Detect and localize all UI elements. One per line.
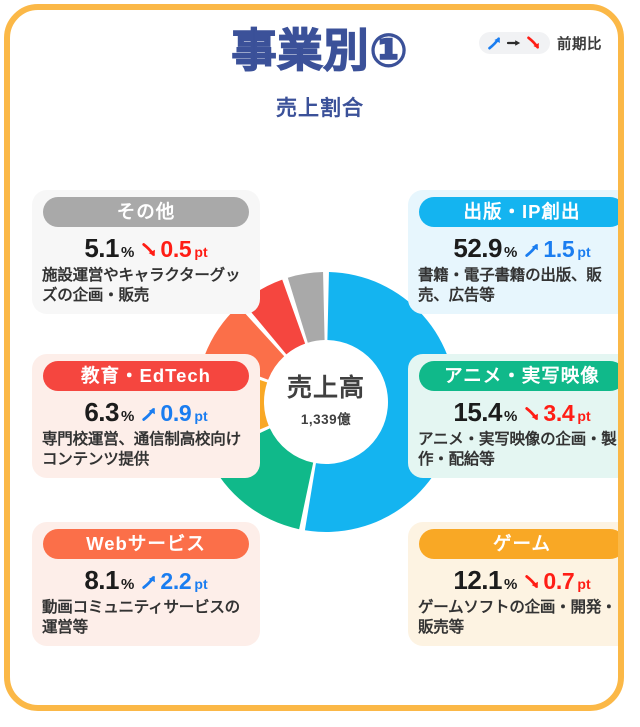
card-web[interactable]: Webサービス 8.1 % 2.2 pt 動画コミュニティサービスの運営等 bbox=[32, 522, 260, 646]
card-game-delta-unit: pt bbox=[577, 576, 590, 592]
card-other-description: 施設運営やキャラクターグッズの企画・販売 bbox=[42, 266, 250, 306]
card-web-arrow-up-right-icon bbox=[140, 573, 158, 591]
card-other-delta-unit: pt bbox=[194, 244, 207, 260]
infographic-frame: 事業別① 売上割合 前期比 売上高 1,339億 bbox=[4, 4, 624, 711]
card-web-description: 動画コミュニティサービスの運営等 bbox=[42, 598, 250, 638]
legend-label: 前期比 bbox=[557, 33, 602, 54]
card-education-delta-unit: pt bbox=[194, 408, 207, 424]
card-education-percent: 6.3 bbox=[84, 397, 119, 428]
card-game-description: ゲームソフトの企画・開発・販売等 bbox=[418, 598, 624, 638]
card-education-stats: 6.3 % 0.9 pt bbox=[32, 397, 260, 428]
card-anime-arrow-down-right-icon bbox=[523, 405, 541, 423]
card-game-percent: 12.1 bbox=[453, 565, 502, 596]
card-other-stats: 5.1 % 0.5 pt bbox=[32, 233, 260, 264]
card-other-percent: 5.1 bbox=[84, 233, 119, 264]
card-education-percent-unit: % bbox=[121, 408, 134, 425]
card-game-percent-unit: % bbox=[504, 576, 517, 593]
card-other-label: その他 bbox=[43, 197, 249, 227]
card-game-label: ゲーム bbox=[419, 529, 624, 559]
card-game[interactable]: ゲーム 12.1 % 0.7 pt ゲームソフトの企画・開発・販売等 bbox=[408, 522, 624, 646]
card-other-delta: 0.5 bbox=[160, 236, 191, 263]
card-education-delta: 0.9 bbox=[160, 400, 191, 427]
card-anime-description: アニメ・実写映像の企画・製作・配給等 bbox=[418, 430, 624, 470]
card-other-percent-unit: % bbox=[121, 244, 134, 261]
card-anime-percent: 15.4 bbox=[453, 397, 502, 428]
legend-arrow-chip bbox=[479, 32, 550, 54]
card-game-delta: 0.7 bbox=[543, 568, 574, 595]
card-anime[interactable]: アニメ・実写映像 15.4 % 3.4 pt アニメ・実写映像の企画・製作・配給… bbox=[408, 354, 624, 478]
card-anime-delta-unit: pt bbox=[577, 408, 590, 424]
card-web-delta-unit: pt bbox=[194, 576, 207, 592]
card-publishing-stats: 52.9 % 1.5 pt bbox=[408, 233, 624, 264]
card-publishing[interactable]: 出版・IP創出 52.9 % 1.5 pt 書籍・電子書籍の出版、販売、広告等 bbox=[408, 190, 624, 314]
card-publishing-delta-unit: pt bbox=[577, 244, 590, 260]
arrow-right-icon bbox=[506, 35, 522, 51]
card-publishing-delta: 1.5 bbox=[543, 236, 574, 263]
donut-center-title: 売上高 bbox=[287, 376, 365, 401]
arrow-down-right-icon bbox=[525, 35, 542, 51]
card-web-percent-unit: % bbox=[121, 576, 134, 593]
card-web-percent: 8.1 bbox=[84, 565, 119, 596]
card-education-arrow-up-right-icon bbox=[140, 405, 158, 423]
card-game-stats: 12.1 % 0.7 pt bbox=[408, 565, 624, 596]
card-anime-delta: 3.4 bbox=[543, 400, 574, 427]
card-anime-percent-unit: % bbox=[504, 408, 517, 425]
card-other[interactable]: その他 5.1 % 0.5 pt 施設運営やキャラクターグッズの企画・販売 bbox=[32, 190, 260, 314]
card-anime-label: アニメ・実写映像 bbox=[419, 361, 624, 391]
donut-center: 売上高 1,339億 bbox=[270, 346, 382, 458]
page-subtitle: 売上割合 bbox=[10, 92, 624, 122]
card-web-stats: 8.1 % 2.2 pt bbox=[32, 565, 260, 596]
legend-period-comparison: 前期比 bbox=[479, 32, 602, 54]
card-education-label: 教育・EdTech bbox=[43, 361, 249, 391]
card-other-arrow-down-right-icon bbox=[140, 241, 158, 259]
card-anime-stats: 15.4 % 3.4 pt bbox=[408, 397, 624, 428]
card-web-delta: 2.2 bbox=[160, 568, 191, 595]
card-publishing-percent-unit: % bbox=[504, 244, 517, 261]
card-education[interactable]: 教育・EdTech 6.3 % 0.9 pt 専門校運営、通信制高校向けコンテン… bbox=[32, 354, 260, 478]
card-publishing-arrow-up-right-icon bbox=[523, 241, 541, 259]
donut-center-value: 1,339億 bbox=[301, 408, 351, 428]
card-publishing-percent: 52.9 bbox=[453, 233, 502, 264]
arrow-up-right-icon bbox=[486, 35, 503, 51]
card-education-description: 専門校運営、通信制高校向けコンテンツ提供 bbox=[42, 430, 250, 470]
card-game-arrow-down-right-icon bbox=[523, 573, 541, 591]
card-publishing-description: 書籍・電子書籍の出版、販売、広告等 bbox=[418, 266, 624, 306]
card-web-label: Webサービス bbox=[43, 529, 249, 559]
card-publishing-label: 出版・IP創出 bbox=[419, 197, 624, 227]
